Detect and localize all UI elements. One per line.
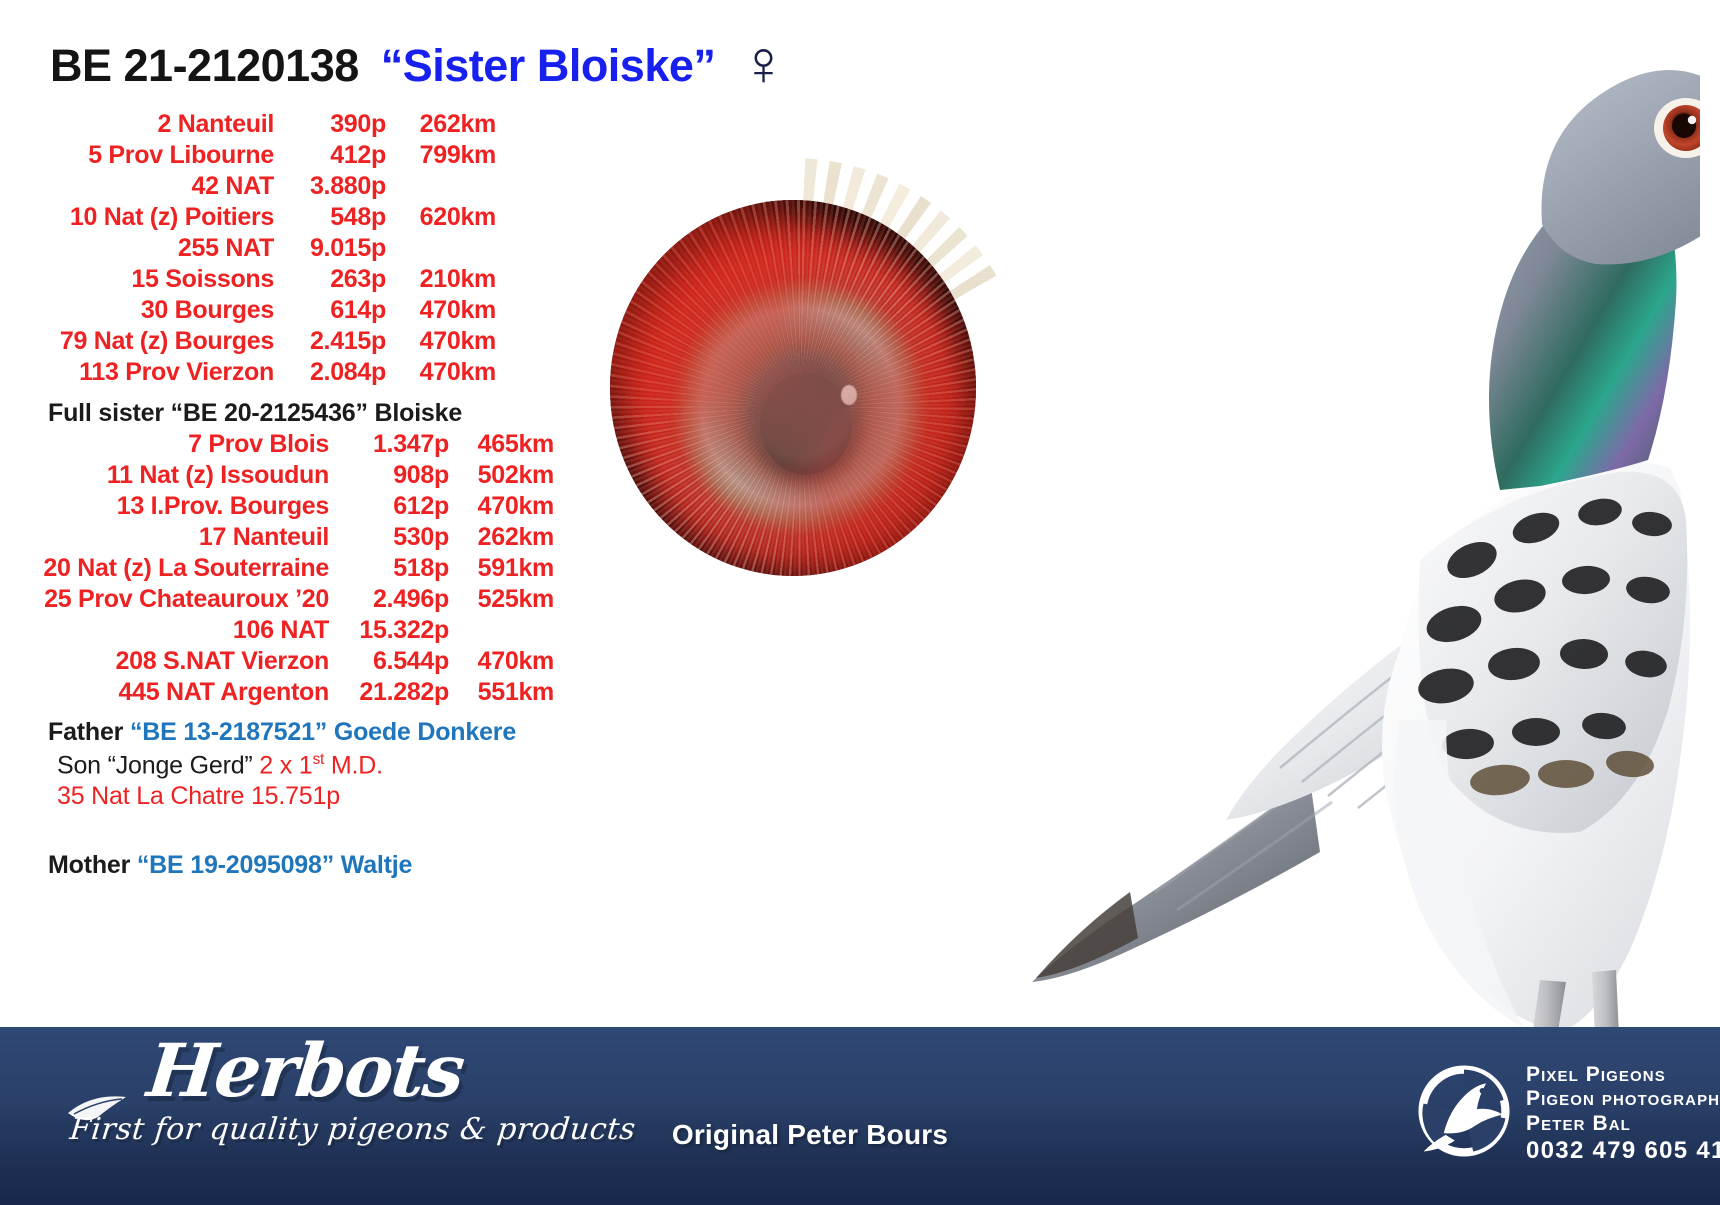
result-name: 255 NAT xyxy=(34,234,284,263)
pigeon-eye-photo xyxy=(558,158,1028,628)
results-table-main: 2 Nanteuil 390p 262km 5 Prov Libourne 41… xyxy=(34,110,496,389)
result-points: 2.084p xyxy=(284,358,396,387)
result-distance: 262km xyxy=(396,110,496,139)
result-name: 30 Bourges xyxy=(34,296,284,325)
father-label: Father xyxy=(48,718,130,746)
breeder-credit: Original Peter Bours xyxy=(600,1119,1020,1151)
result-name: 10 Nat (z) Poitiers xyxy=(34,203,284,232)
herbots-wordmark: Herbots xyxy=(144,1035,466,1108)
parents-section: Father “BE 13-2187521” Goede Donkere Son… xyxy=(48,718,516,880)
photographer-name: Peter Bal xyxy=(1526,1112,1720,1136)
result-points: 614p xyxy=(284,296,396,325)
eye-pupil xyxy=(760,373,852,475)
eye-glint xyxy=(841,385,857,406)
full-sister-heading: Full sister “BE 20-2125436” Bloiske xyxy=(48,399,462,428)
result-points: 6.544p xyxy=(339,647,459,676)
result-name: 106 NAT xyxy=(34,616,339,645)
result-distance: 799km xyxy=(396,141,496,170)
photographer-text: Pixel Pigeons Pigeon photography Peter B… xyxy=(1526,1063,1720,1165)
result-points: 530p xyxy=(339,523,459,552)
result-points: 908p xyxy=(339,461,459,490)
father-son-prize: 2 x 1 xyxy=(259,751,312,779)
table-row: 106 NAT 15.322p xyxy=(34,616,554,647)
table-row: 10 Nat (z) Poitiers 548p 620km xyxy=(34,203,496,234)
page-title: BE 21-2120138 “Sister Bloiske” ♀ xyxy=(50,40,787,92)
father-son-text: Son “Jonge Gerd” xyxy=(57,751,259,779)
table-row: 20 Nat (z) La Souterraine 518p 591km xyxy=(34,554,554,585)
table-row: 7 Prov Blois 1.347p 465km xyxy=(34,430,554,461)
table-row: 445 NAT Argenton 21.282p 551km xyxy=(34,678,554,709)
result-points: 15.322p xyxy=(339,616,459,645)
eye-iris xyxy=(610,200,977,576)
result-name: 2 Nanteuil xyxy=(34,110,284,139)
result-name: 113 Prov Vierzon xyxy=(34,358,284,387)
father-ring-number: “BE 13-2187521” xyxy=(130,718,327,746)
result-distance: 470km xyxy=(396,358,496,387)
table-row: 17 Nanteuil 530p 262km xyxy=(34,523,554,554)
result-name: 20 Nat (z) La Souterraine xyxy=(34,554,339,583)
father-result-line: 35 Nat La Chatre 15.751p xyxy=(57,782,516,811)
result-points: 2.496p xyxy=(339,585,459,614)
table-row: 30 Bourges 614p 470km xyxy=(34,296,496,327)
result-points: 412p xyxy=(284,141,396,170)
result-points: 263p xyxy=(284,265,396,294)
result-distance: 591km xyxy=(459,554,554,583)
result-name: 79 Nat (z) Bourges xyxy=(34,327,284,356)
result-points: 1.347p xyxy=(339,430,459,459)
result-name: 25 Prov Chateauroux ’20 xyxy=(34,585,339,614)
table-row: 11 Nat (z) Issoudun 908p 502km xyxy=(34,461,554,492)
result-name: 445 NAT Argenton xyxy=(34,678,339,707)
result-distance: 502km xyxy=(459,461,554,490)
father-line: Father “BE 13-2187521” Goede Donkere xyxy=(48,718,516,747)
result-name: 7 Prov Blois xyxy=(34,430,339,459)
result-points: 2.415p xyxy=(284,327,396,356)
result-distance: 470km xyxy=(459,492,554,521)
photographer-phone: 0032 479 605 415 xyxy=(1526,1137,1720,1165)
result-distance: 470km xyxy=(396,327,496,356)
result-name: 42 NAT xyxy=(34,172,284,201)
father-son-md: M.D. xyxy=(324,751,383,779)
result-distance: 470km xyxy=(459,647,554,676)
result-distance: 551km xyxy=(459,678,554,707)
table-row: 208 S.NAT Vierzon 6.544p 470km xyxy=(34,647,554,678)
table-row: 25 Prov Chateauroux ’20 2.496p 525km xyxy=(34,585,554,616)
table-row: 2 Nanteuil 390p 262km xyxy=(34,110,496,141)
table-row: 42 NAT 3.880p xyxy=(34,172,496,203)
father-son-line: Son “Jonge Gerd” 2 x 1st M.D. xyxy=(57,751,516,780)
result-points: 518p xyxy=(339,554,459,583)
pixel-pigeons-logo-icon xyxy=(1418,1065,1510,1157)
result-distance: 620km xyxy=(396,203,496,232)
result-distance: 210km xyxy=(396,265,496,294)
result-points: 548p xyxy=(284,203,396,232)
result-name: 11 Nat (z) Issoudun xyxy=(34,461,339,490)
result-points: 9.015p xyxy=(284,234,396,263)
photographer-company: Pixel Pigeons xyxy=(1526,1063,1720,1087)
result-distance: 465km xyxy=(459,430,554,459)
pigeon-name: “Sister Bloiske” xyxy=(381,40,716,92)
mother-ring-number: “BE 19-2095098” xyxy=(137,851,334,879)
result-name: 208 S.NAT Vierzon xyxy=(34,647,339,676)
mother-line: Mother “BE 19-2095098” Waltje xyxy=(48,851,516,880)
result-name: 13 I.Prov. Bourges xyxy=(34,492,339,521)
result-distance: 262km xyxy=(459,523,554,552)
photographer-specialty: Pigeon photography xyxy=(1526,1087,1720,1111)
photographer-credit: Pixel Pigeons Pigeon photography Peter B… xyxy=(1418,1063,1720,1165)
result-distance: 525km xyxy=(459,585,554,614)
result-points: 21.282p xyxy=(339,678,459,707)
pigeon-head xyxy=(1541,70,1700,264)
mother-label: Mother xyxy=(48,851,137,879)
father-name: Goede Donkere xyxy=(327,718,516,746)
results-table-sister: 7 Prov Blois 1.347p 465km 11 Nat (z) Iss… xyxy=(34,430,554,709)
result-distance: 470km xyxy=(396,296,496,325)
pedigree-card: BE 21-2120138 “Sister Bloiske” ♀ xyxy=(0,0,1720,1205)
pigeon-portrait-photo: 88 xyxy=(980,20,1700,1110)
herbots-logo: Herbots First for quality pigeons & prod… xyxy=(70,1035,540,1195)
result-name: 15 Soissons xyxy=(34,265,284,294)
result-name: 17 Nanteuil xyxy=(34,523,339,552)
table-row: 13 I.Prov. Bourges 612p 470km xyxy=(34,492,554,523)
table-row: 79 Nat (z) Bourges 2.415p 470km xyxy=(34,327,496,358)
result-points: 3.880p xyxy=(284,172,396,201)
table-row: 15 Soissons 263p 210km xyxy=(34,265,496,296)
mother-name: Waltje xyxy=(334,851,412,879)
result-name: 5 Prov Libourne xyxy=(34,141,284,170)
table-row: 113 Prov Vierzon 2.084p 470km xyxy=(34,358,496,389)
female-sex-icon: ♀ xyxy=(739,38,787,89)
footer-banner: Herbots First for quality pigeons & prod… xyxy=(0,1027,1720,1205)
table-row: 5 Prov Libourne 412p 799km xyxy=(34,141,496,172)
ordinal-suffix: st xyxy=(312,751,324,768)
herbots-tagline: First for quality pigeons & products xyxy=(68,1112,637,1147)
table-row: 255 NAT 9.015p xyxy=(34,234,496,265)
ring-number: BE 21-2120138 xyxy=(50,40,359,92)
result-points: 390p xyxy=(284,110,396,139)
result-points: 612p xyxy=(339,492,459,521)
